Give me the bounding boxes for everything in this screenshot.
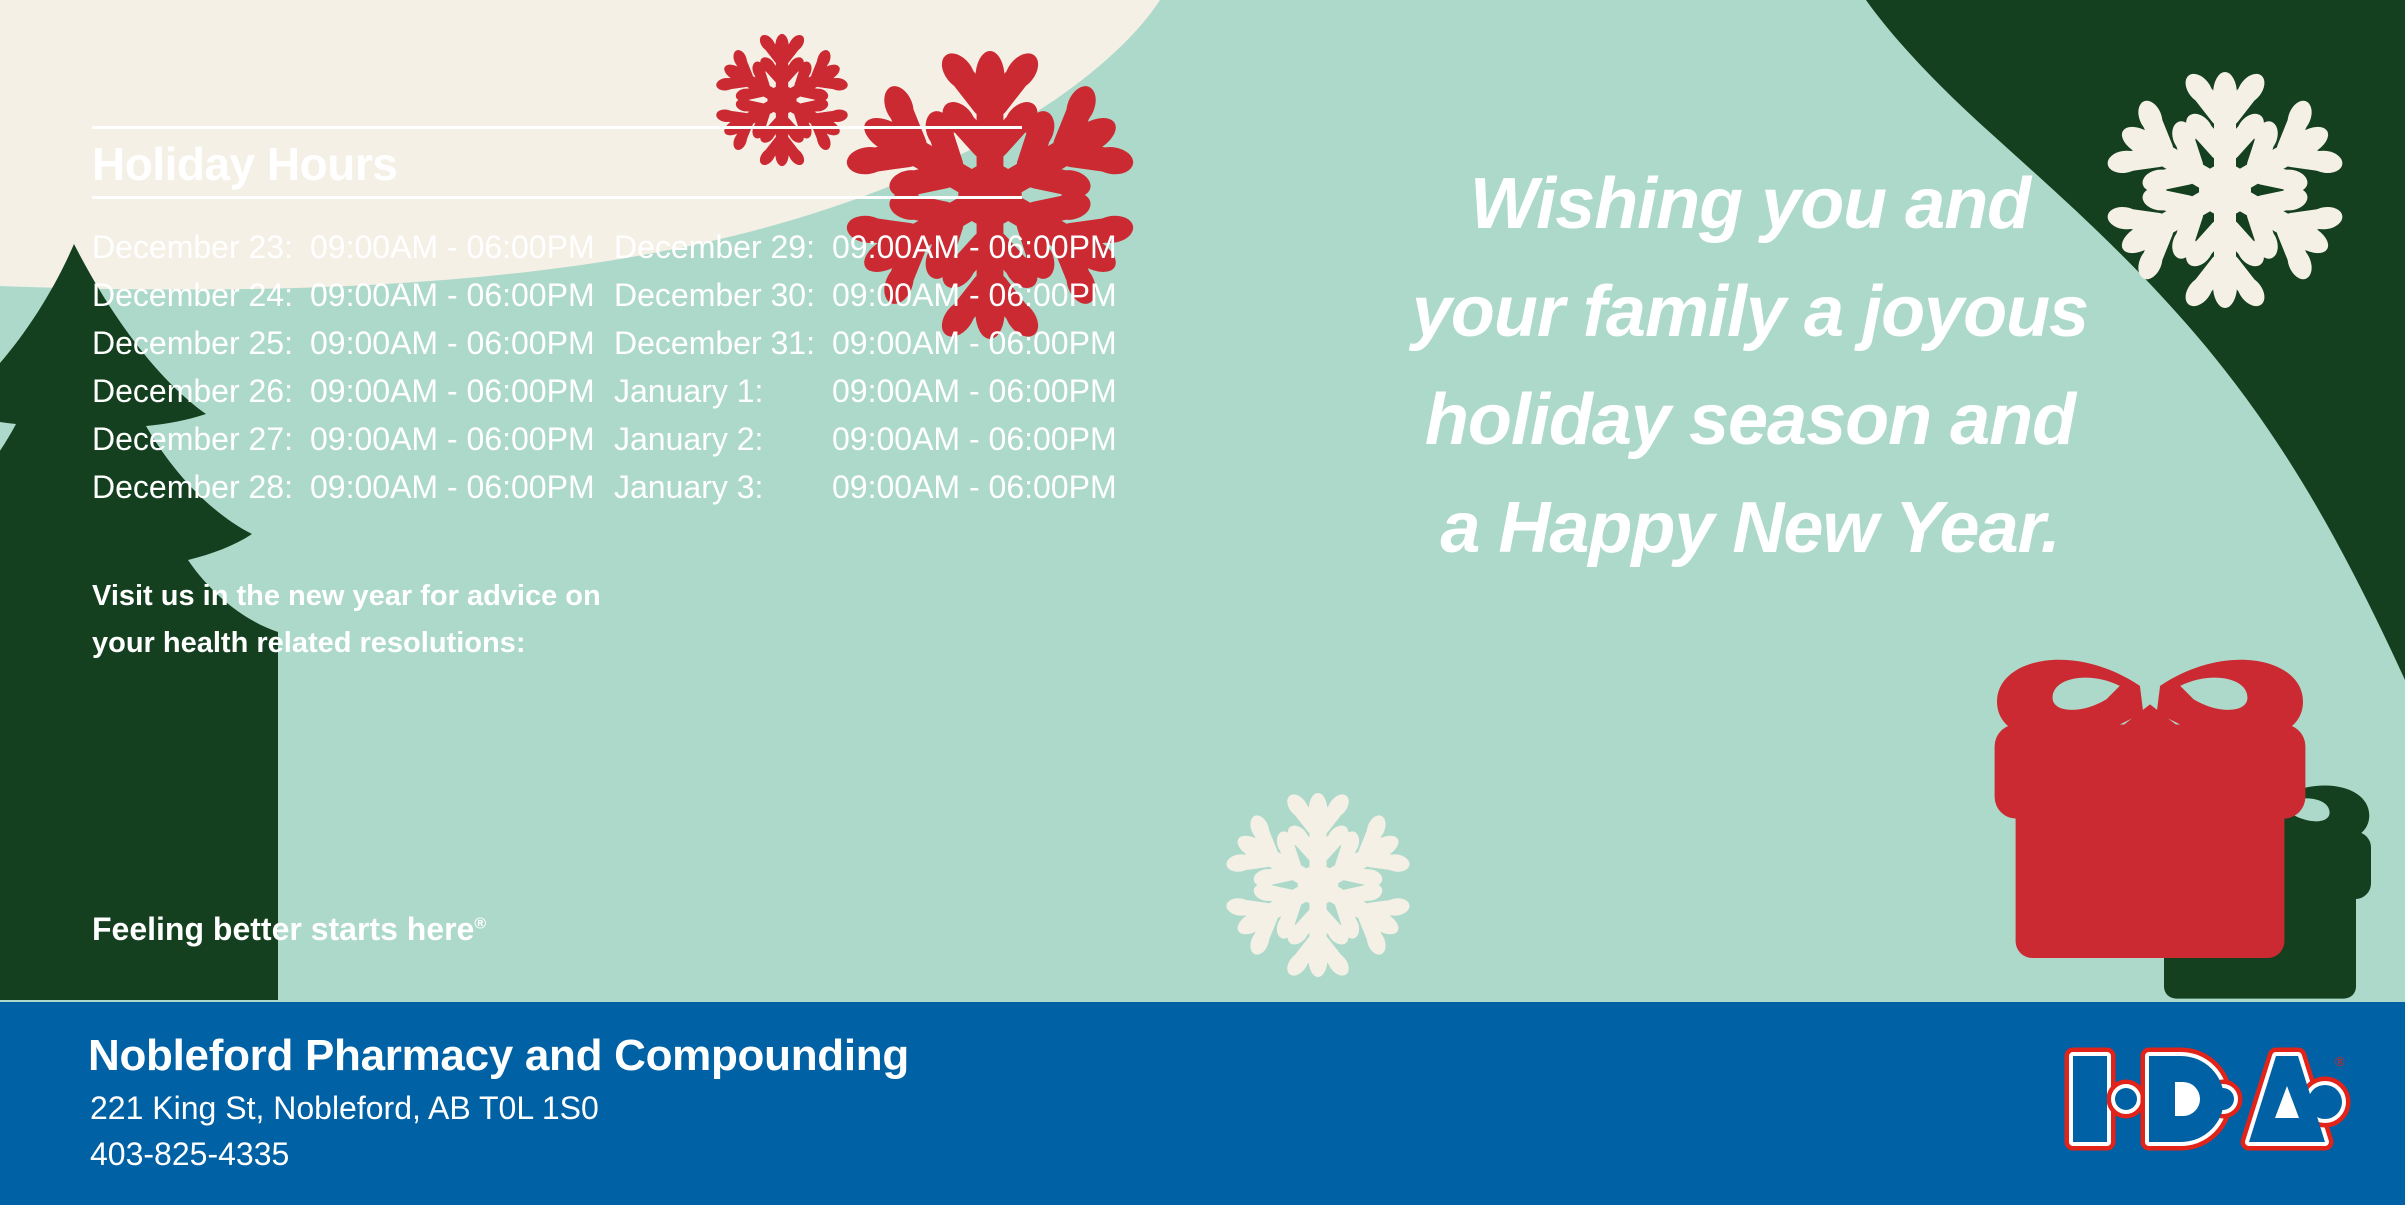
hours-day: January 1: <box>614 367 832 415</box>
hours-time: 09:00AM - 06:00PM <box>832 463 1122 511</box>
hours-day: December 26: <box>92 367 310 415</box>
hours-day: December 24: <box>92 271 310 319</box>
promo-line-2: your health related resolutions: <box>92 620 792 667</box>
holiday-hours-title: Holiday Hours <box>92 129 1122 196</box>
gift-box-icon-red <box>1995 660 2306 958</box>
promo-line-1: Visit us in the new year for advice on <box>92 573 792 620</box>
hours-day: December 23: <box>92 223 310 271</box>
hours-columns: December 23: 09:00AM - 06:00PM December … <box>92 223 1122 511</box>
hours-time: 09:00AM - 06:00PM <box>832 223 1122 271</box>
hours-column-1: December 23: 09:00AM - 06:00PM December … <box>92 223 614 511</box>
hours-day: December 28: <box>92 463 310 511</box>
greeting-message: Wishing you and your family a joyous hol… <box>1355 150 2145 582</box>
hours-rule-bottom <box>92 196 1022 199</box>
hours-time: 09:00AM - 06:00PM <box>310 415 600 463</box>
hours-row: December 27: 09:00AM - 06:00PM <box>92 415 614 463</box>
hours-day: December 27: <box>92 415 310 463</box>
brand-tagline: Feeling better starts here® <box>92 911 486 948</box>
tagline-text: Feeling better starts here <box>92 911 474 947</box>
hours-day: December 29: <box>614 223 832 271</box>
hours-row: January 1: 09:00AM - 06:00PM <box>614 367 1122 415</box>
hours-row: December 26: 09:00AM - 06:00PM <box>92 367 614 415</box>
pharmacy-address: 221 King St, Nobleford, AB T0L 1S0 <box>90 1090 599 1127</box>
holiday-hours-block: Holiday Hours December 23: 09:00AM - 06:… <box>92 126 1122 511</box>
hours-day: December 25: <box>92 319 310 367</box>
hours-row: December 24: 09:00AM - 06:00PM <box>92 271 614 319</box>
hours-time: 09:00AM - 06:00PM <box>310 463 600 511</box>
hours-time: 09:00AM - 06:00PM <box>832 367 1122 415</box>
pharmacy-name: Nobleford Pharmacy and Compounding <box>88 1031 909 1081</box>
hours-day: December 30: <box>614 271 832 319</box>
greeting-line-1: Wishing you and <box>1355 150 2145 258</box>
greeting-line-3: holiday season and <box>1355 366 2145 474</box>
hours-day: January 2: <box>614 415 832 463</box>
hours-row: December 29: 09:00AM - 06:00PM <box>614 223 1122 271</box>
holiday-banner: Holiday Hours December 23: 09:00AM - 06:… <box>0 0 2405 1205</box>
hours-row: December 23: 09:00AM - 06:00PM <box>92 223 614 271</box>
hours-time: 09:00AM - 06:00PM <box>832 319 1122 367</box>
hours-row: December 30: 09:00AM - 06:00PM <box>614 271 1122 319</box>
hours-row: January 2: 09:00AM - 06:00PM <box>614 415 1122 463</box>
ida-registered-mark: ® <box>2335 1054 2345 1069</box>
hours-day: January 3: <box>614 463 832 511</box>
hours-time: 09:00AM - 06:00PM <box>832 271 1122 319</box>
hours-day: December 31: <box>614 319 832 367</box>
hours-time: 09:00AM - 06:00PM <box>310 223 600 271</box>
hours-column-2: December 29: 09:00AM - 06:00PM December … <box>614 223 1122 511</box>
hours-time: 09:00AM - 06:00PM <box>832 415 1122 463</box>
promo-text: Visit us in the new year for advice on y… <box>92 573 792 667</box>
hours-row: December 28: 09:00AM - 06:00PM <box>92 463 614 511</box>
hours-time: 09:00AM - 06:00PM <box>310 319 600 367</box>
pharmacy-phone: 403-825-4335 <box>90 1136 289 1173</box>
footer-bar: Nobleford Pharmacy and Compounding 221 K… <box>0 1002 2405 1205</box>
ida-logo: ® <box>2063 1040 2353 1158</box>
hours-row: December 31: 09:00AM - 06:00PM <box>614 319 1122 367</box>
greeting-line-2: your family a joyous <box>1355 258 2145 366</box>
hours-row: December 25: 09:00AM - 06:00PM <box>92 319 614 367</box>
hours-time: 09:00AM - 06:00PM <box>310 271 600 319</box>
greeting-line-4: a Happy New Year. <box>1355 474 2145 582</box>
hours-time: 09:00AM - 06:00PM <box>310 367 600 415</box>
hours-row: January 3: 09:00AM - 06:00PM <box>614 463 1122 511</box>
registered-mark: ® <box>474 915 486 932</box>
